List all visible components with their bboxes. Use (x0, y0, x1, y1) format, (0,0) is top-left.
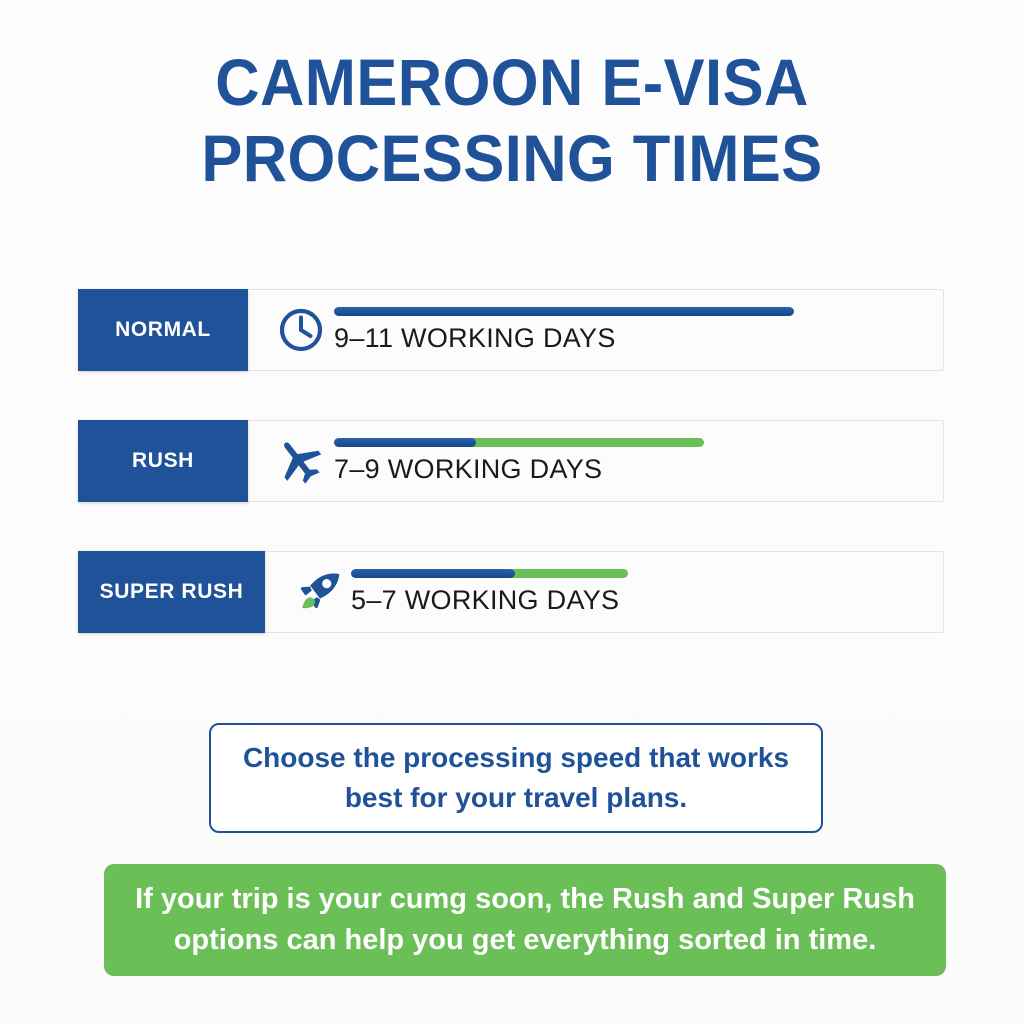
row-days-normal: 9–11 WORKING DAYS (334, 323, 616, 354)
progress-bar-fill-blue (351, 569, 515, 578)
processing-option-row[interactable]: RUSH 7–9 WORKING DAYS (78, 420, 944, 502)
row-content-rush: 7–9 WORKING DAYS (330, 420, 944, 502)
page-title: CAMEROON E-VISA PROCESSING TIMES (36, 44, 988, 196)
progress-bar-fill-blue (334, 438, 476, 447)
row-body-super-rush: 5–7 WORKING DAYS (265, 551, 944, 633)
processing-options-list: NORMAL 9–11 WORKING DAYS (78, 289, 944, 682)
airplane-icon (272, 432, 330, 490)
row-label-normal: NORMAL (78, 289, 248, 371)
progress-bar-fill-blue (334, 307, 794, 316)
page-title-line-2: PROCESSING TIMES (36, 120, 988, 196)
page-title-line-1: CAMEROON E-VISA (36, 44, 988, 120)
row-content-normal: 9–11 WORKING DAYS (330, 289, 944, 371)
progress-bar-rush (334, 438, 704, 447)
row-body-rush: 7–9 WORKING DAYS (248, 420, 944, 502)
processing-option-row[interactable]: NORMAL 9–11 WORKING DAYS (78, 289, 944, 371)
banner-text: If your trip is your cumg soon, the Rush… (104, 879, 946, 961)
green-banner: If your trip is your cumg soon, the Rush… (104, 864, 946, 976)
rocket-icon (289, 563, 347, 621)
row-label-super-rush: SUPER RUSH (78, 551, 265, 633)
callout-box: Choose the processing speed that works b… (209, 723, 823, 833)
infographic-page: CAMEROON E-VISA PROCESSING TIMES NORMAL (0, 0, 1024, 1024)
clock-icon (272, 301, 330, 359)
row-body-normal: 9–11 WORKING DAYS (248, 289, 944, 371)
callout-text: Choose the processing speed that works b… (211, 738, 821, 818)
progress-bar-super-rush (351, 569, 628, 578)
row-label-rush: RUSH (78, 420, 248, 502)
row-content-super-rush: 5–7 WORKING DAYS (347, 551, 944, 633)
row-days-super-rush: 5–7 WORKING DAYS (351, 585, 619, 616)
progress-bar-normal (334, 307, 794, 316)
row-days-rush: 7–9 WORKING DAYS (334, 454, 602, 485)
processing-option-row[interactable]: SUPER RUSH (78, 551, 944, 633)
